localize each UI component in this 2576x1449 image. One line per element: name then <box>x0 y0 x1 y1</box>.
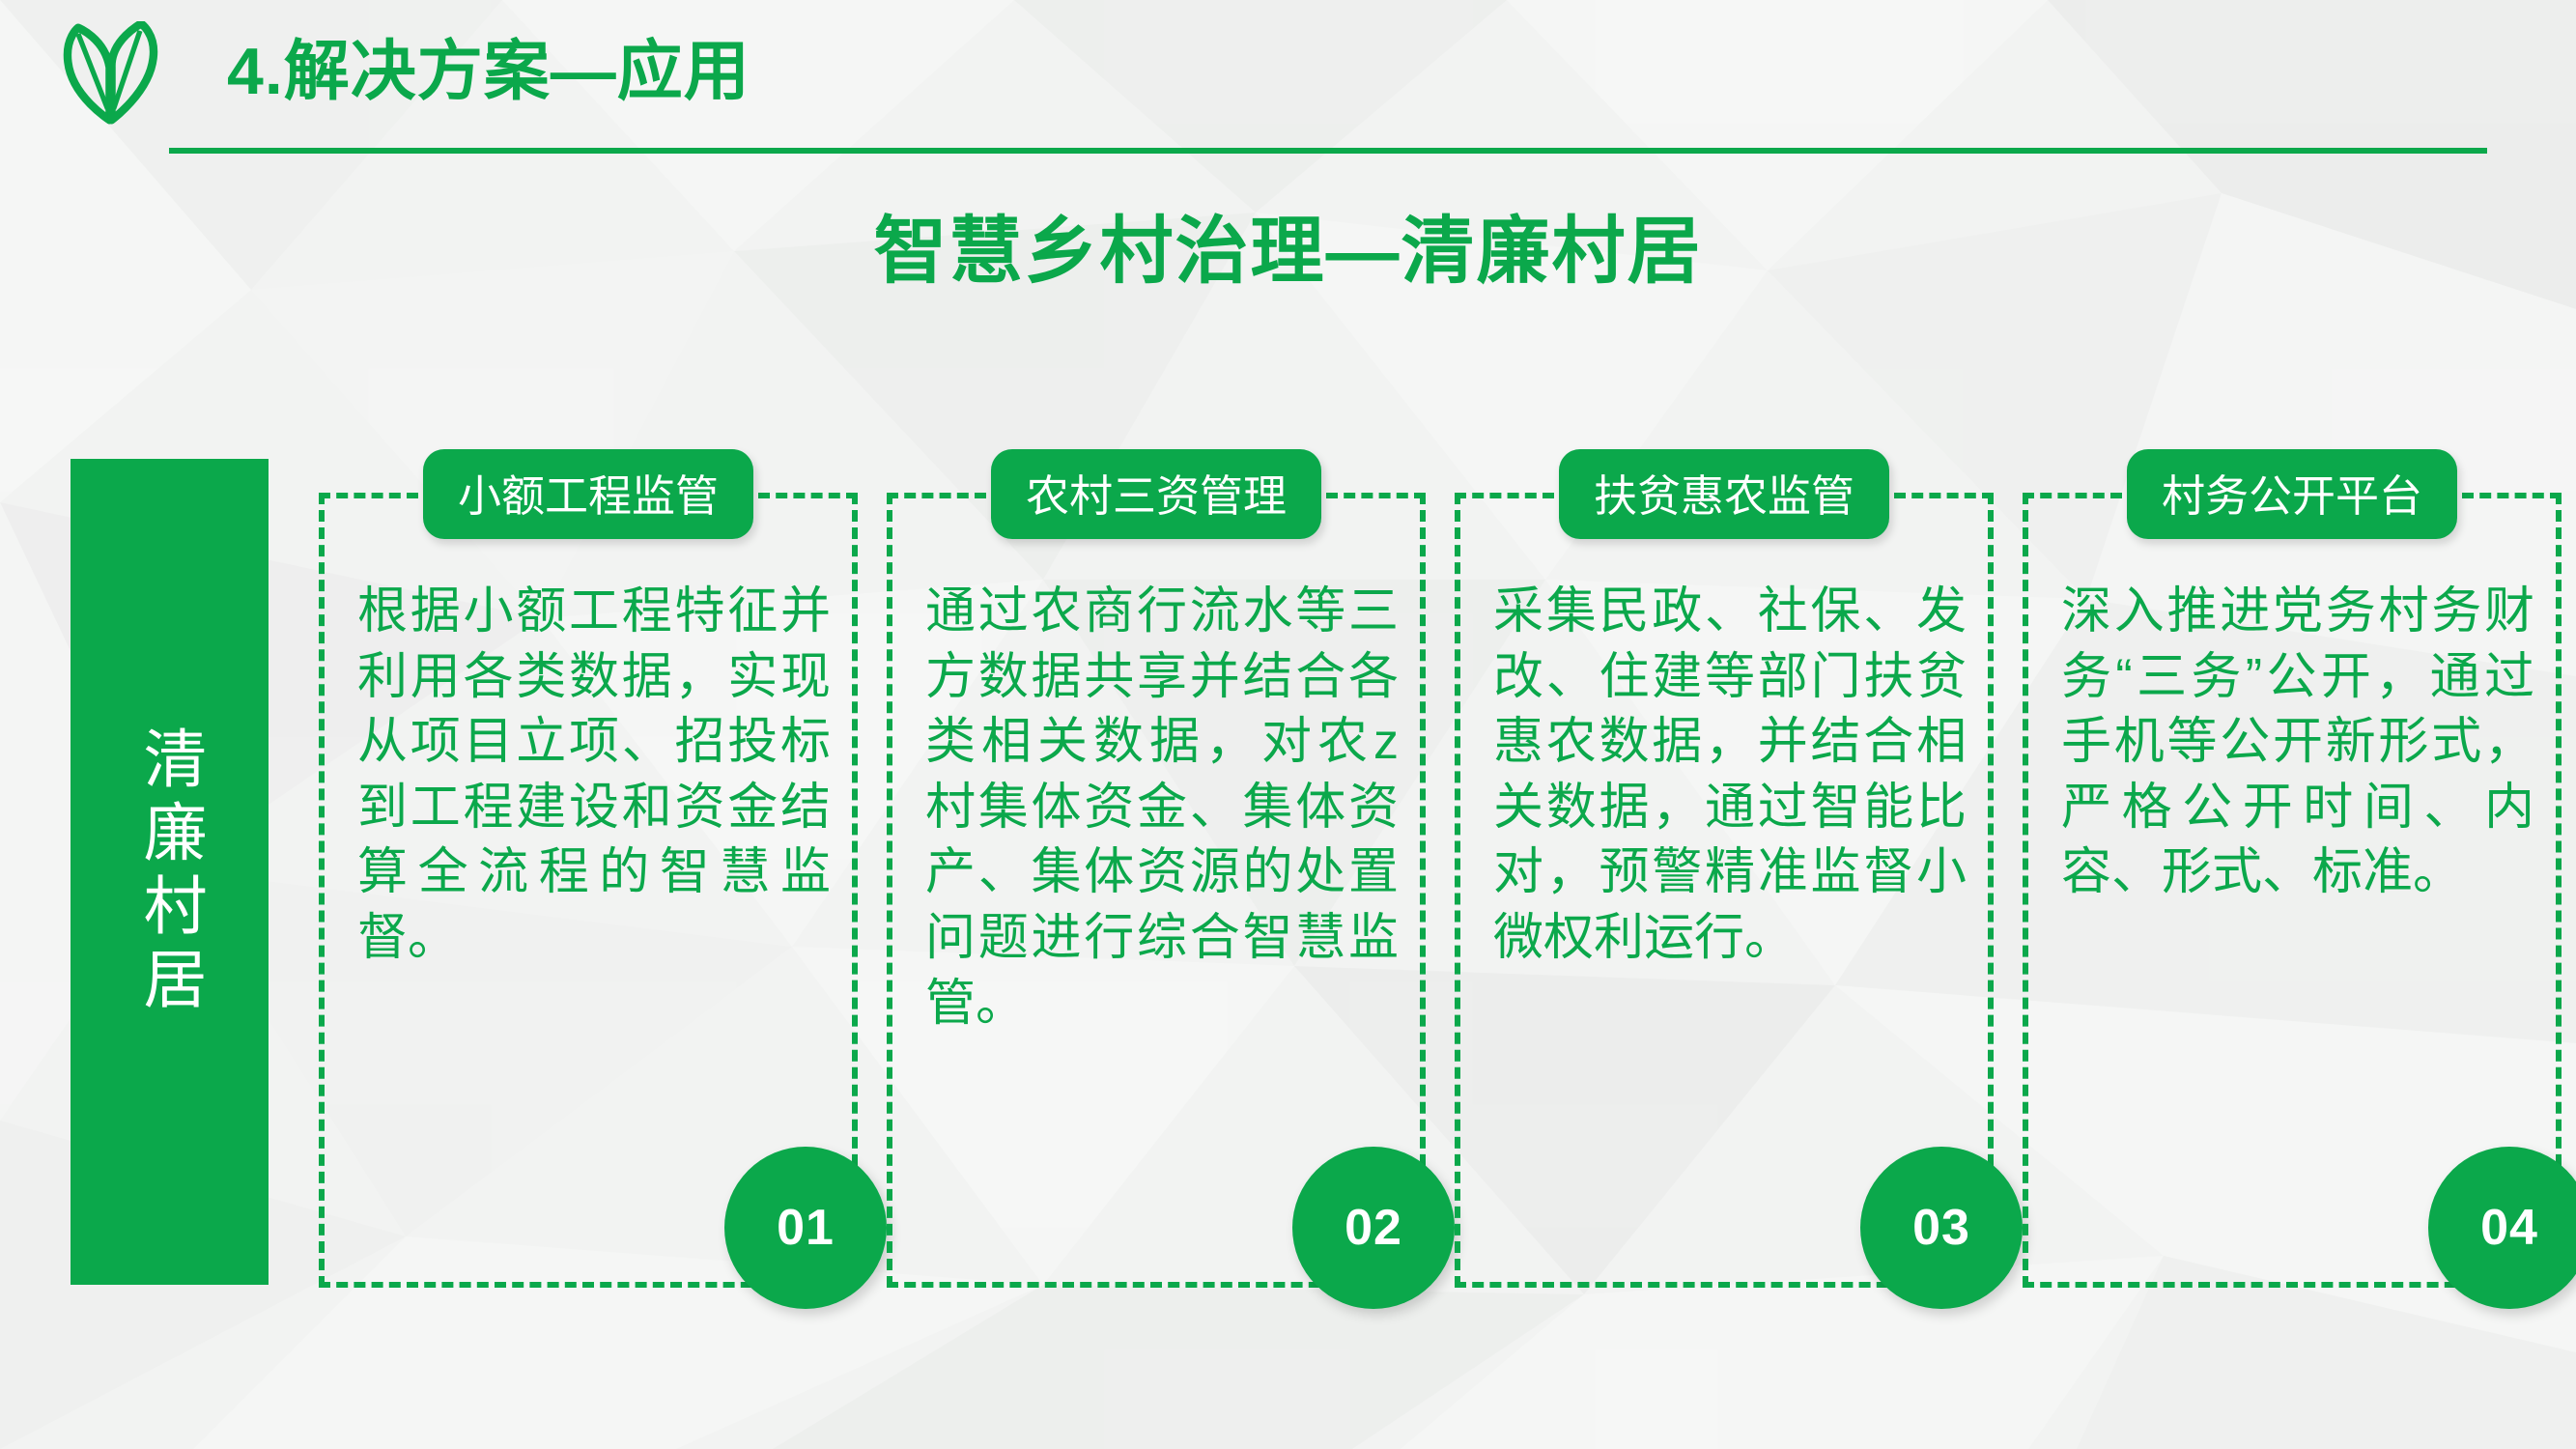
card-body-text: 根据小额工程特征并利用各类数据，实现从项目立项、招投标到工程建设和资金结算全流程… <box>357 580 831 972</box>
card-badge[interactable]: 扶贫惠农监管 <box>1559 449 1889 539</box>
card-badge[interactable]: 农村三资管理 <box>991 449 1321 539</box>
main-title: 智慧乡村治理—清廉村居 <box>0 191 2576 298</box>
page-header: 4.解决方案—应用 <box>0 0 2576 179</box>
solution-card[interactable]: 小额工程监管 根据小额工程特征并利用各类数据，实现从项目立项、招投标到工程建设和… <box>319 449 858 1288</box>
card-badge[interactable]: 村务公开平台 <box>2127 449 2457 539</box>
card-body-text: 采集民政、社保、发改、住建等部门扶贫惠农数据，并结合相关数据，通过智能比对，预警… <box>1493 580 1967 972</box>
side-label-bar: 清廉村居 <box>71 459 269 1285</box>
solution-card[interactable]: 扶贫惠农监管 采集民政、社保、发改、住建等部门扶贫惠农数据，并结合相关数据，通过… <box>1455 449 1994 1288</box>
solution-card[interactable]: 农村三资管理 通过农商行流水等三方数据共享并结合各类相关数据，对农z村集体资金、… <box>887 449 1426 1288</box>
card-number-badge: 03 <box>1860 1147 2023 1309</box>
solution-card[interactable]: 村务公开平台 深入推进党务村务财务“三务”公开，通过手机等公开新形式，严格公开时… <box>2023 449 2562 1288</box>
page-title: 4.解决方案—应用 <box>227 17 750 113</box>
leaf-icon <box>60 21 161 128</box>
side-label-text: 清廉村居 <box>136 725 204 1019</box>
card-badge[interactable]: 小额工程监管 <box>423 449 753 539</box>
card-number-badge: 01 <box>724 1147 887 1309</box>
card-number-badge: 02 <box>1292 1147 1455 1309</box>
card-body-text: 深入推进党务村务财务“三务”公开，通过手机等公开新形式，严格公开时间、内容、形式… <box>2061 580 2534 906</box>
header-divider <box>169 148 2487 154</box>
card-body-text: 通过农商行流水等三方数据共享并结合各类相关数据，对农z村集体资金、集体资产、集体… <box>925 580 1399 1037</box>
